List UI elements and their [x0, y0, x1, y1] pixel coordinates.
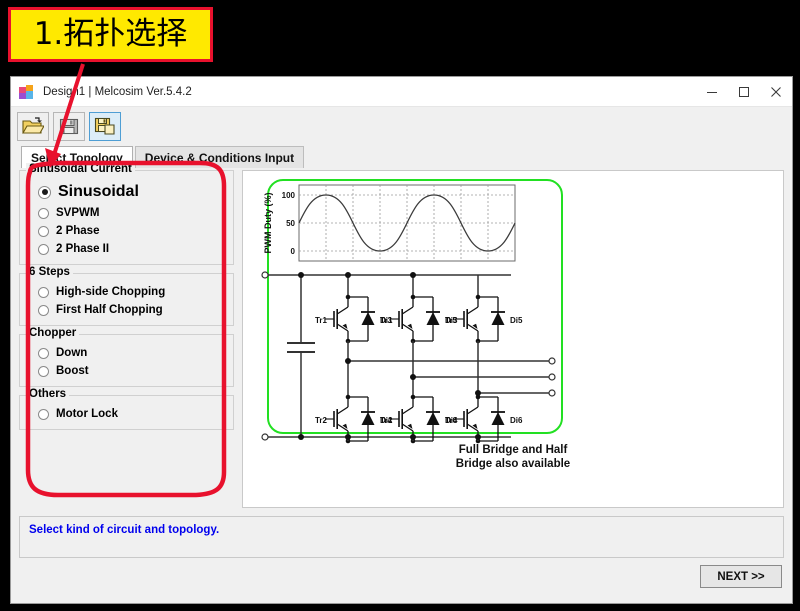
group-others: Others Motor Lock	[19, 395, 234, 430]
label-tr3: Tr3	[380, 316, 393, 325]
window-title: Design1 | Melcosim Ver.5.4.2	[43, 86, 192, 98]
preview-caption-line2: Bridge also available	[243, 457, 783, 471]
open-folder-icon	[22, 117, 44, 136]
pwm-duty-chart: 100 50 0 PWM Duty (%)	[263, 185, 515, 261]
minimize-icon[interactable]	[696, 77, 728, 107]
window-controls	[696, 77, 792, 107]
panes: Sinusoidal Current Sinusoidal SVPWM	[19, 170, 784, 508]
radio-boost[interactable]: Boost	[26, 362, 227, 380]
radio-motor-lock[interactable]: Motor Lock	[26, 405, 227, 423]
radio-svpwm-label: SVPWM	[56, 207, 99, 219]
step-callout: 1.拓扑选择	[8, 7, 213, 62]
topology-preview-panel: 100 50 0 PWM Duty (%)	[242, 170, 784, 508]
radio-sinusoidal[interactable]: Sinusoidal	[26, 180, 227, 204]
label-tr5: Tr5	[445, 316, 458, 325]
radio-down-indicator[interactable]	[38, 348, 49, 359]
radio-2-phase-indicator[interactable]	[38, 226, 49, 237]
preview-caption: Full Bridge and Half Bridge also availab…	[243, 443, 783, 471]
floppy-disk-icon	[59, 117, 79, 136]
svg-text:0: 0	[291, 247, 296, 256]
radio-sinusoidal-indicator[interactable]	[38, 186, 51, 199]
group-chopper-title: Chopper	[26, 327, 79, 339]
footer: NEXT >>	[19, 559, 784, 595]
tab-device-conditions-input-label: Device & Conditions Input	[145, 151, 294, 165]
radio-2-phase-ii-indicator[interactable]	[38, 244, 49, 255]
radio-first-half-chopping[interactable]: First Half Chopping	[26, 301, 227, 319]
group-sinusoidal-current-title: Sinusoidal Current	[26, 163, 135, 175]
radio-high-side-chopping[interactable]: High-side Chopping	[26, 283, 227, 301]
preview-caption-line1: Full Bridge and Half	[243, 443, 783, 457]
tab-content: Sinusoidal Current Sinusoidal SVPWM	[19, 170, 784, 595]
tab-device-conditions-input[interactable]: Device & Conditions Input	[135, 146, 304, 168]
radio-sinusoidal-label: Sinusoidal	[58, 183, 139, 201]
radio-boost-indicator[interactable]	[38, 366, 49, 377]
save-as-icon	[94, 117, 116, 136]
radio-boost-label: Boost	[56, 365, 89, 377]
label-tr6: Tr6	[445, 416, 458, 425]
radio-motor-lock-indicator[interactable]	[38, 409, 49, 420]
radio-first-half-chopping-indicator[interactable]	[38, 305, 49, 316]
radio-2-phase-label: 2 Phase	[56, 225, 99, 237]
save-button[interactable]	[53, 112, 85, 141]
status-panel: Select kind of circuit and topology.	[19, 516, 784, 558]
step-callout-text: 1.拓扑选择	[34, 19, 188, 50]
radio-2-phase[interactable]: 2 Phase	[26, 222, 227, 240]
circuit-diagram: 100 50 0 PWM Duty (%)	[243, 171, 783, 471]
radio-first-half-chopping-label: First Half Chopping	[56, 304, 163, 316]
svg-text:PWM Duty (%): PWM Duty (%)	[263, 193, 273, 254]
application-window: Design1 | Melcosim Ver.5.4.2	[10, 76, 793, 604]
save-as-button[interactable]	[89, 112, 121, 141]
group-6-steps: 6 Steps High-side Chopping First Half Ch…	[19, 273, 234, 326]
label-tr1: Tr1	[315, 316, 328, 325]
label-di6: Di6	[510, 416, 523, 425]
group-6-steps-title: 6 Steps	[26, 266, 73, 278]
radio-svpwm[interactable]: SVPWM	[26, 204, 227, 222]
svg-text:50: 50	[286, 219, 295, 228]
label-tr2: Tr2	[315, 416, 328, 425]
topology-options-panel: Sinusoidal Current Sinusoidal SVPWM	[19, 170, 234, 508]
label-tr4: Tr4	[380, 416, 393, 425]
open-file-button[interactable]	[17, 112, 49, 141]
radio-2-phase-ii-label: 2 Phase II	[56, 243, 109, 255]
app-palette-icon	[19, 85, 35, 99]
group-chopper: Chopper Down Boost	[19, 334, 234, 387]
radio-down-label: Down	[56, 347, 87, 359]
label-di5: Di5	[510, 316, 523, 325]
inverter-bridge: Tr1 Di1 Tr2 Di2 Tr3	[262, 272, 555, 443]
radio-high-side-chopping-indicator[interactable]	[38, 287, 49, 298]
group-sinusoidal-current: Sinusoidal Current Sinusoidal SVPWM	[19, 170, 234, 265]
status-message: Select kind of circuit and topology.	[29, 524, 774, 536]
toolbar	[11, 107, 792, 145]
group-others-title: Others	[26, 388, 69, 400]
svg-text:100: 100	[282, 191, 296, 200]
radio-svpwm-indicator[interactable]	[38, 208, 49, 219]
maximize-icon[interactable]	[728, 77, 760, 107]
screen-root: Design1 | Melcosim Ver.5.4.2	[0, 0, 800, 611]
next-button[interactable]: NEXT >>	[700, 565, 782, 588]
radio-down[interactable]: Down	[26, 344, 227, 362]
title-bar: Design1 | Melcosim Ver.5.4.2	[11, 77, 792, 107]
radio-2-phase-ii[interactable]: 2 Phase II	[26, 240, 227, 258]
radio-high-side-chopping-label: High-side Chopping	[56, 286, 165, 298]
close-icon[interactable]	[760, 77, 792, 107]
radio-motor-lock-label: Motor Lock	[56, 408, 118, 420]
